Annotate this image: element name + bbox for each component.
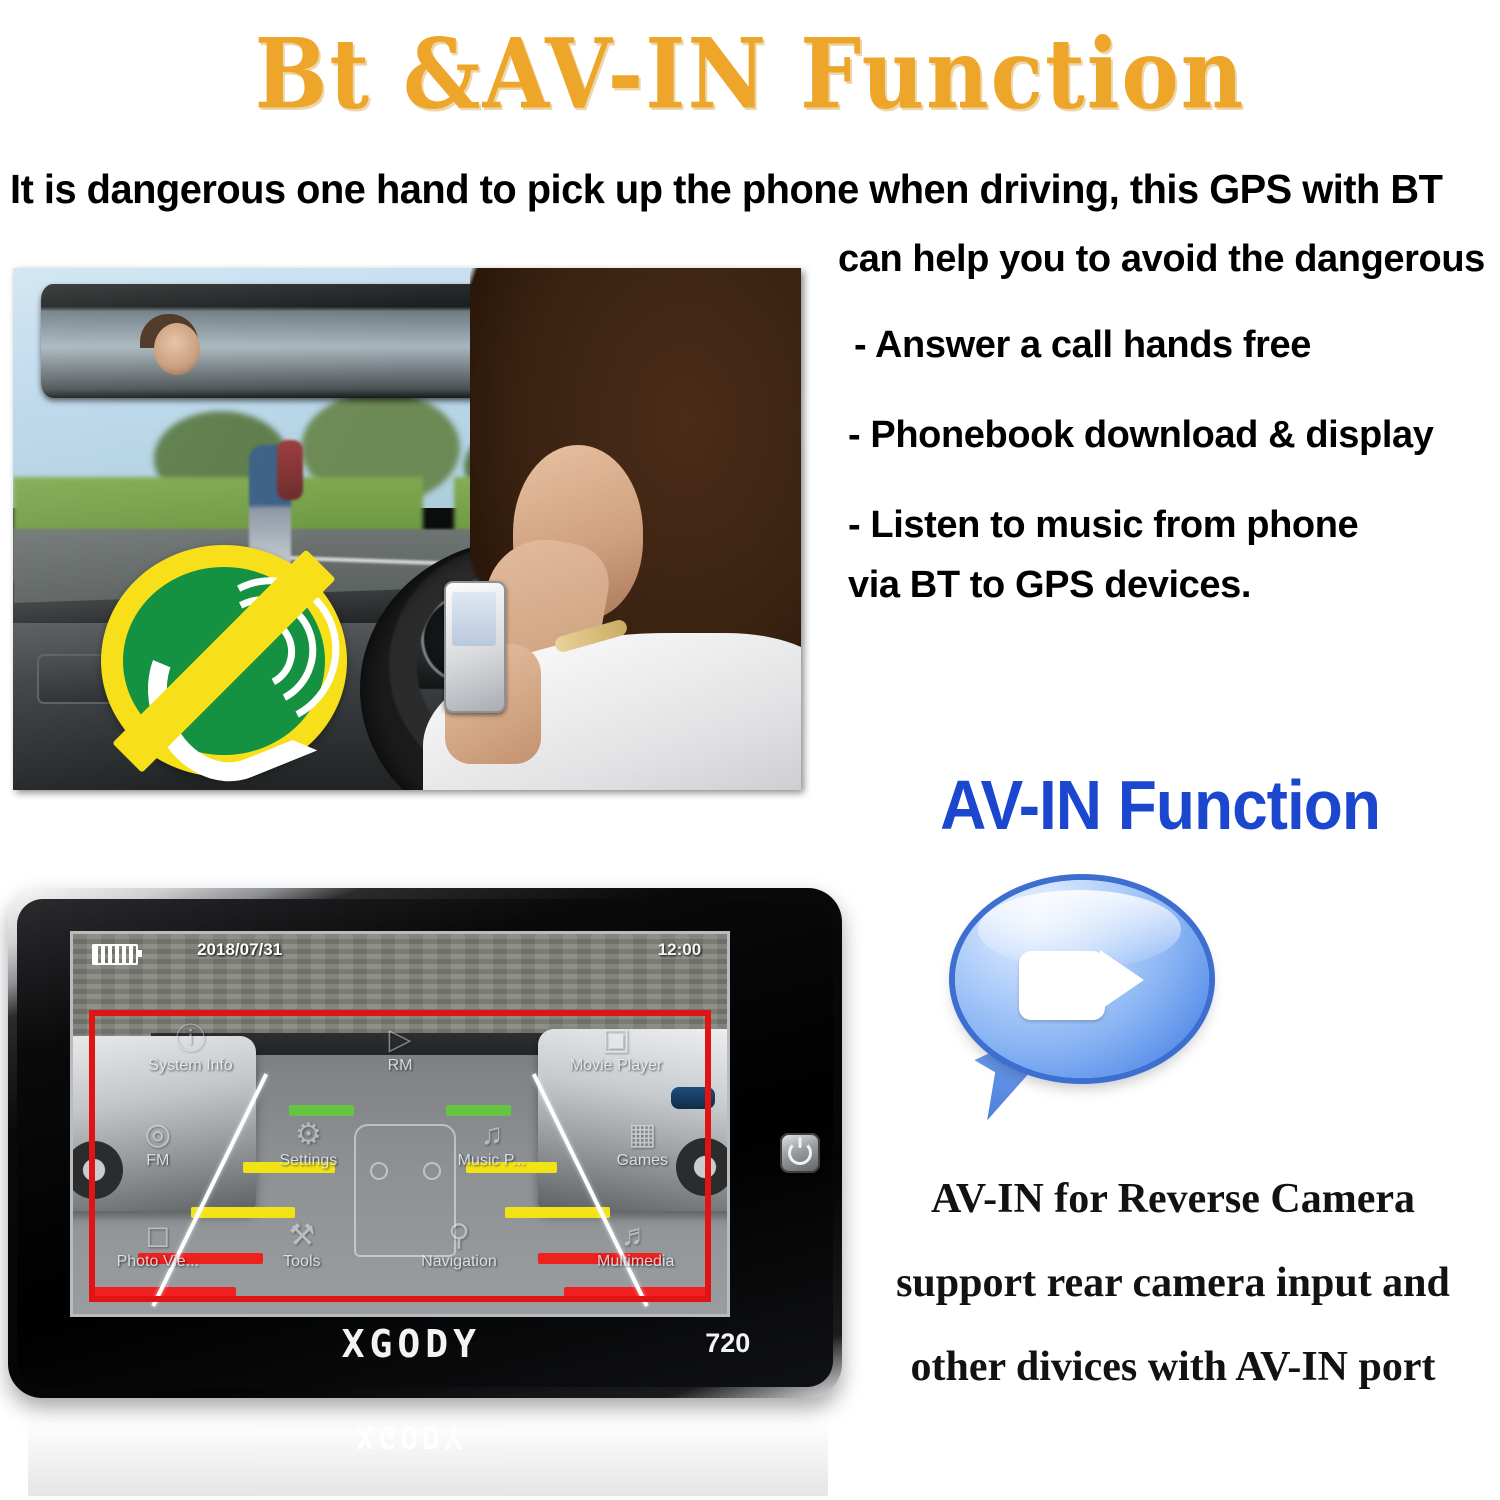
menu-label: RM [388,1057,413,1074]
av-in-description: AV-IN for Reverse Camera support rear ca… [846,1178,1500,1388]
gear-icon: ⚙ [230,1118,387,1152]
menu-item-music-player[interactable]: ♫ Music P... [413,1118,570,1170]
av-in-desc-line-3: other divices with AV-IN port [846,1346,1500,1388]
intro-paragraph: It is dangerous one hand to pick up the … [10,166,1446,213]
power-icon [788,1141,812,1165]
fm-icon: ◎ [86,1118,230,1152]
device-screen[interactable]: 2018/07/31 12:00 ⓘ System Info ▷ RM ▣ Mo… [70,931,731,1317]
multimedia-icon: ♬ [551,1219,721,1253]
screen-time: 12:00 [658,940,701,960]
menu-label: Navigation [421,1253,497,1270]
movie-icon: ▣ [518,1023,714,1057]
play-icon: ▷ [308,1023,491,1057]
menu-item-navigation[interactable]: ⚲ Navigation [367,1219,550,1271]
screen-menu-grid: ⓘ System Info ▷ RM ▣ Movie Player ◎ FM ⚙… [73,976,728,1314]
feature-intro-line: can help you to avoid the dangerous [838,240,1494,278]
menu-label: FM [146,1152,169,1169]
music-icon: ♫ [413,1118,570,1152]
tools-icon: ⚒ [236,1219,367,1253]
feature-item-music-cont: via BT to GPS devices. [848,566,1494,604]
screen-date: 2018/07/31 [197,940,282,960]
menu-item-rm[interactable]: ▷ RM [308,1023,491,1075]
info-icon: ⓘ [99,1023,282,1057]
menu-item-fm[interactable]: ◎ FM [86,1118,230,1170]
menu-label: Music P... [458,1152,526,1169]
menu-label: Movie Player [570,1057,662,1074]
menu-label: Multimedia [597,1253,674,1270]
device-brand-bar: XGODY 720 [8,1309,842,1386]
screen-status-bar: 2018/07/31 12:00 [73,934,728,980]
menu-item-movie-player[interactable]: ▣ Movie Player [518,1023,714,1075]
menu-item-photo-viewer[interactable]: ◻ Photo Vie... [79,1219,236,1271]
video-camera-icon [1019,951,1105,1020]
photo-icon: ◻ [79,1219,236,1253]
device-reflection: XGODY [28,1400,828,1496]
feature-item-answer-call: - Answer a call hands free [854,326,1494,364]
brand-logo: XGODY [342,1322,481,1366]
menu-item-settings[interactable]: ⚙ Settings [230,1118,387,1170]
feature-item-music: - Listen to music from phone [848,506,1494,544]
menu-item-system-info[interactable]: ⓘ System Info [99,1023,282,1075]
menu-label: Photo Vie... [117,1253,199,1270]
menu-item-games[interactable]: ▦ Games [570,1118,714,1170]
menu-label: Tools [283,1253,320,1270]
video-camera-lens-icon [1100,950,1144,1010]
battery-icon [92,944,138,965]
navigation-icon: ⚲ [367,1219,550,1253]
no-phone-icon [101,545,347,777]
menu-label: System Info [148,1057,232,1074]
menu-item-multimedia[interactable]: ♬ Multimedia [551,1219,721,1271]
model-number: 720 [705,1328,750,1359]
menu-label: Settings [279,1152,337,1169]
gamepad-icon: ▦ [570,1118,714,1152]
power-button[interactable] [780,1133,820,1173]
feature-list: can help you to avoid the dangerous - An… [826,240,1494,604]
gps-device: 2018/07/31 12:00 ⓘ System Info ▷ RM ▣ Mo… [8,888,842,1398]
reflection-brand-text: XGODY [356,1419,466,1454]
video-camera-bubble [955,880,1209,1118]
av-in-desc-line-1: AV-IN for Reverse Camera [846,1178,1500,1220]
menu-item-tools[interactable]: ⚒ Tools [236,1219,367,1271]
page-title: Bt &AV-IN Function [0,18,1500,131]
menu-label: Games [616,1152,668,1169]
av-in-desc-line-2: support rear camera input and [846,1262,1500,1304]
av-in-heading: AV-IN Function [826,765,1494,845]
feature-item-phonebook: - Phonebook download & display [848,416,1494,454]
